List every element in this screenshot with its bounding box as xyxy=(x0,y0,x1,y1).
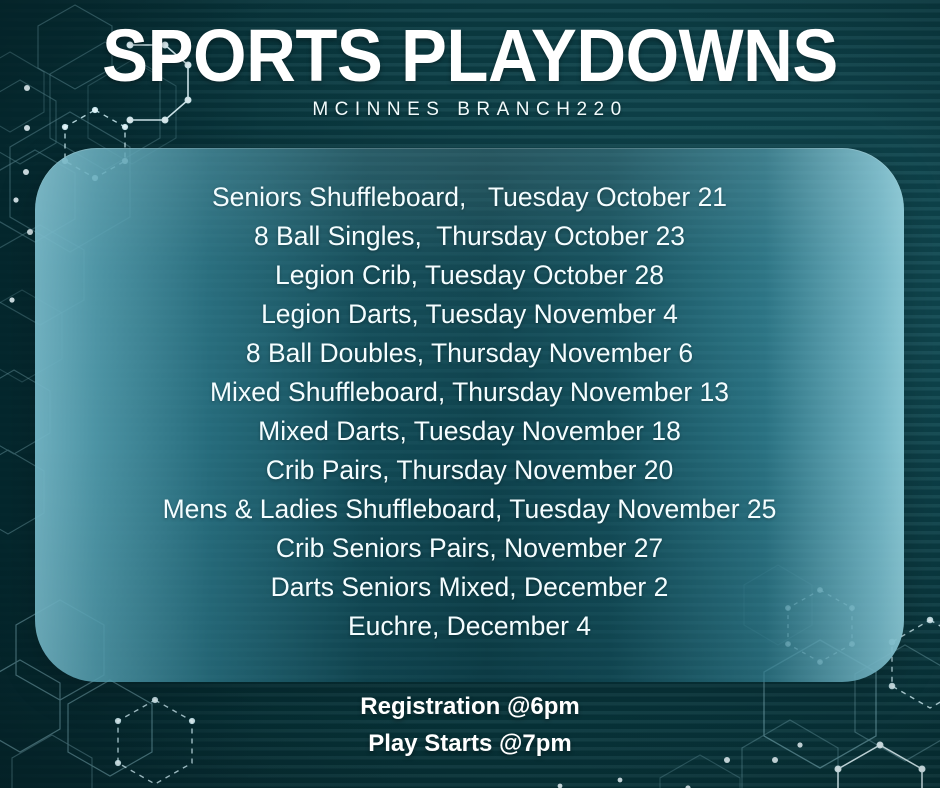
list-item: Mixed Shuffleboard, Thursday November 13 xyxy=(210,373,729,412)
list-item: Mixed Darts, Tuesday November 18 xyxy=(258,412,681,451)
page-subtitle: MCINNES BRANCH220 xyxy=(0,95,940,121)
list-item: Mens & Ladies Shuffleboard, Tuesday Nove… xyxy=(163,490,777,529)
registration-time: Registration @6pm xyxy=(0,688,940,725)
schedule-list: Seniors Shuffleboard, Tuesday October 21… xyxy=(35,148,904,682)
poster-canvas: SPORTS PLAYDOWNS MCINNES BRANCH220 Senio… xyxy=(0,0,940,788)
list-item: Legion Darts, Tuesday November 4 xyxy=(261,295,678,334)
list-item: 8 Ball Singles, Thursday October 23 xyxy=(254,217,685,256)
page-title: SPORTS PLAYDOWNS xyxy=(33,0,907,95)
list-item: Crib Seniors Pairs, November 27 xyxy=(276,529,663,568)
list-item: 8 Ball Doubles, Thursday November 6 xyxy=(246,334,693,373)
poster-footer: Registration @6pm Play Starts @7pm xyxy=(0,688,940,762)
list-item: Euchre, December 4 xyxy=(348,607,591,646)
list-item: Darts Seniors Mixed, December 2 xyxy=(271,568,669,607)
poster-header: SPORTS PLAYDOWNS MCINNES BRANCH220 xyxy=(0,0,940,148)
list-item: Seniors Shuffleboard, Tuesday October 21 xyxy=(212,178,727,217)
list-item: Legion Crib, Tuesday October 28 xyxy=(275,256,664,295)
list-item: Crib Pairs, Thursday November 20 xyxy=(266,451,673,490)
play-start-time: Play Starts @7pm xyxy=(0,725,940,762)
